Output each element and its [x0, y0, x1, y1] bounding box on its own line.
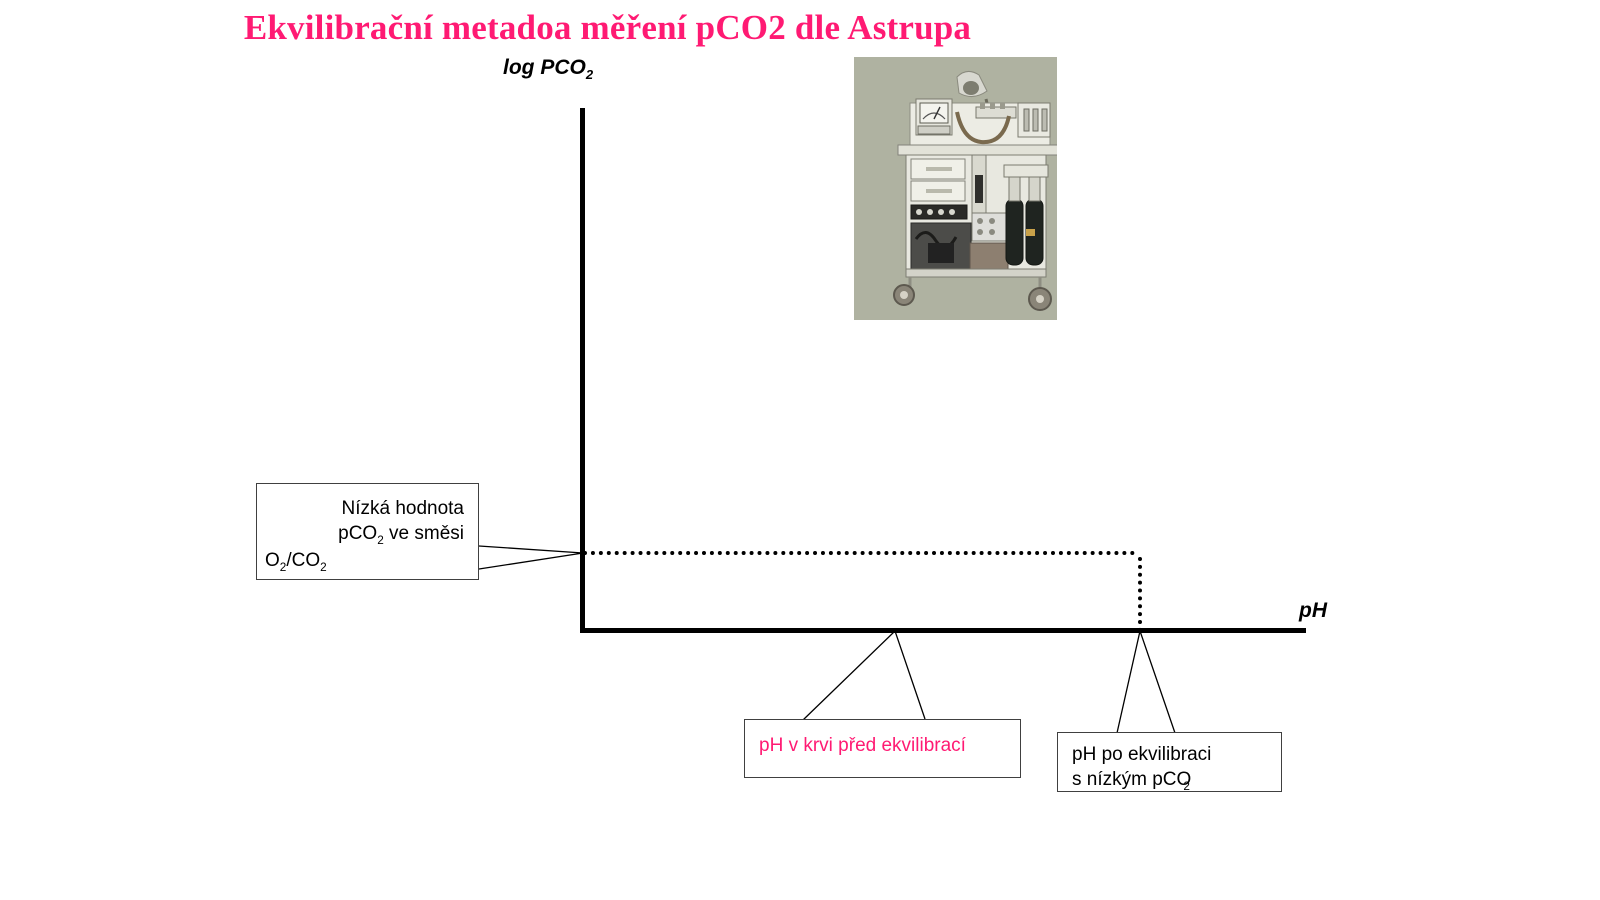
callout-left-co2-text: /CO	[286, 550, 320, 571]
ph-after-equilibration-callout[interactable]: pH po ekvilibraci s nízkým pCO2	[1057, 732, 1282, 792]
callout-left-mixture-text: ve směsi	[384, 523, 464, 544]
callout-right-pco2-sub: 2	[1183, 780, 1190, 793]
leader-right-callout	[1117, 631, 1175, 733]
callout-right-line-2: s nízkým pCO2	[1072, 767, 1281, 794]
ph-after-dotted-line	[1138, 557, 1142, 632]
callout-left-pco2-text: pCO	[338, 523, 377, 544]
leader-left-callout	[479, 546, 583, 569]
y-axis-label-text: log PCO	[503, 56, 586, 79]
y-axis-label-subscript: 2	[586, 67, 593, 82]
low-pco2-mixture-callout[interactable]: Nízká hodnota pCO2 ve směsi O2/CO2	[256, 483, 479, 580]
callout-right-pco2-text: s nízkým pCO	[1072, 769, 1191, 790]
pco2-level-dotted-line	[583, 551, 1135, 555]
x-axis-label: pH	[1299, 599, 1327, 623]
astrup-apparatus-photo	[854, 57, 1057, 320]
callout-left-line-3: O2/CO2	[265, 548, 464, 575]
callout-left-co2-sub: 2	[320, 561, 327, 574]
x-axis-line	[580, 628, 1306, 633]
callout-left-line-1: Nízká hodnota	[265, 496, 464, 521]
ph-before-equilibration-callout[interactable]: pH v krvi před ekvilibrací	[744, 719, 1021, 778]
callout-right-line-1: pH po ekvilibraci	[1072, 742, 1281, 767]
callout-left-line-2: pCO2 ve směsi	[265, 521, 464, 548]
callout-left-o2-text: O	[265, 550, 280, 571]
callout-middle-text: pH v krvi před ekvilibrací	[759, 733, 1020, 758]
apparatus-illustration	[854, 57, 1057, 320]
y-axis-label: log PCO2	[503, 56, 593, 82]
leader-middle-callout	[803, 631, 925, 720]
page-title: Ekvilibrační metadoa měření pCO2 dle Ast…	[0, 8, 1215, 48]
slide-canvas: Ekvilibrační metadoa měření pCO2 dle Ast…	[0, 0, 1600, 900]
